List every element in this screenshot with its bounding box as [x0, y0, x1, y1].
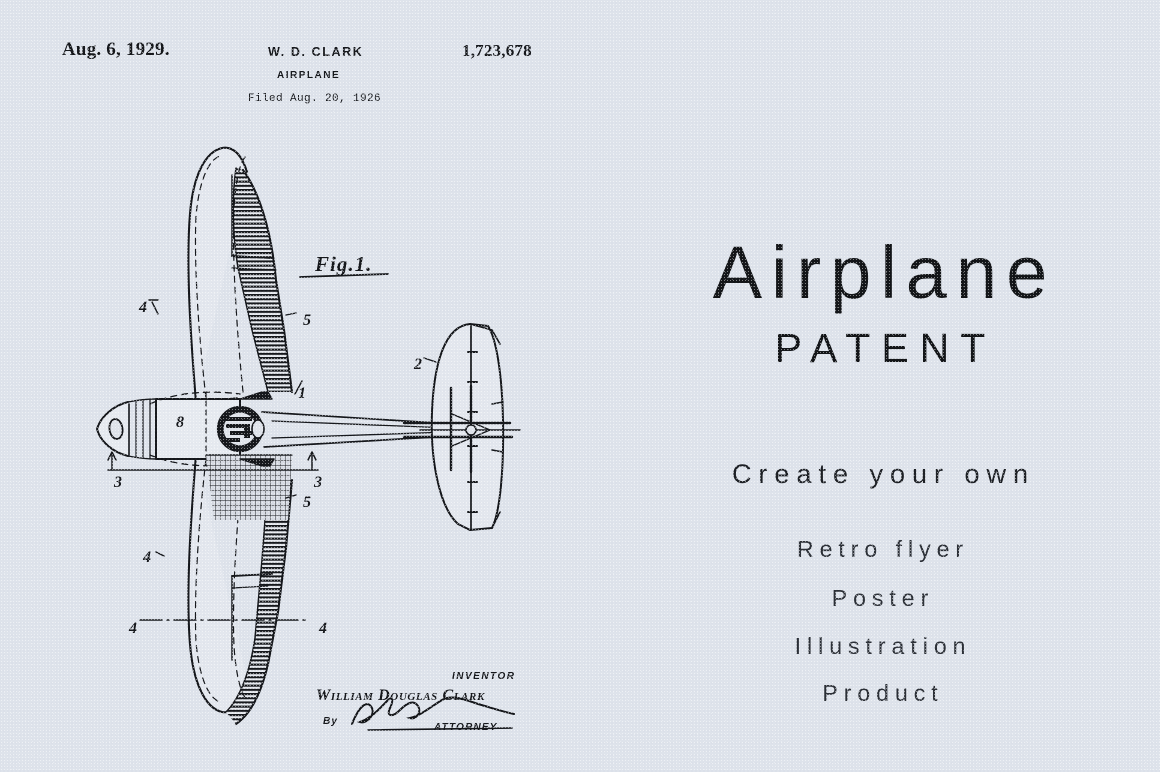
reference-numeral: 5 — [303, 312, 311, 330]
reference-numeral: 8 — [176, 414, 184, 432]
promo-list-item: Poster — [600, 585, 1160, 612]
reference-numeral: 4 — [319, 620, 327, 638]
reference-numeral: 5 — [303, 494, 311, 512]
promo-list-item: Illustration — [600, 633, 1160, 660]
promo-tagline: Create your own — [600, 459, 1160, 490]
promo-list-item: Product — [600, 680, 1160, 707]
patent-drawing-panel: Aug. 6, 1929. W. D. CLARK 1,723,678 AIRP… — [0, 0, 600, 772]
reference-numeral: 3 — [314, 474, 322, 492]
reference-numeral: 1 — [298, 385, 306, 403]
reference-numeral: 4 — [139, 299, 147, 317]
reference-numeral: 4 — [129, 620, 137, 638]
promo-list-item: Retro flyer — [600, 536, 1160, 563]
figure-label: Fig.1. — [314, 252, 372, 276]
reference-numeral: 3 — [114, 474, 122, 492]
promo-text-panel: Airplane PATENT Create your own Retro fl… — [600, 0, 1160, 772]
poster-canvas: Aug. 6, 1929. W. D. CLARK 1,723,678 AIRP… — [0, 0, 1160, 772]
by-label: By — [323, 716, 338, 727]
attorney-label: ATTORNEY — [434, 722, 498, 733]
inventor-name: William Douglas Clark — [316, 687, 485, 705]
reference-numeral: 2 — [414, 356, 422, 374]
promo-subtitle: PATENT — [600, 328, 1160, 369]
inventor-label: INVENTOR — [452, 671, 516, 682]
reference-numeral: 4 — [143, 549, 151, 567]
promo-title: Airplane — [600, 236, 1160, 310]
